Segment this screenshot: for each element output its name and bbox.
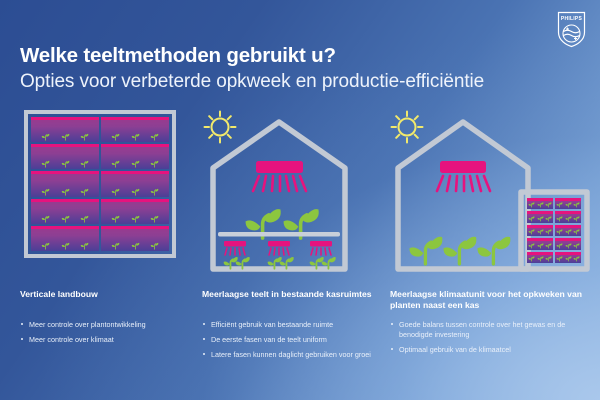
plant-icon [150, 132, 159, 141]
rack-shelf [555, 252, 581, 263]
rack-shelf [555, 225, 581, 236]
column-heading: Meerlaagse teelt in bestaande kasruimtes [202, 289, 378, 300]
plant-icon [61, 187, 70, 196]
rack-shelf [31, 226, 99, 251]
art-greenhouse-with-rack [384, 108, 590, 283]
plant-icon [545, 242, 552, 249]
rack-shelf [31, 117, 99, 142]
rack-shelf [31, 144, 99, 169]
grow-lamp-icon [437, 161, 490, 191]
grow-lamp-icon [310, 241, 332, 255]
plant-icon [556, 255, 563, 262]
plant-icon [565, 215, 572, 222]
vertical-farm-rack [24, 110, 176, 258]
column-climate-unit: Meerlaagse klimaatunit voor het opkweken… [384, 0, 590, 400]
rack-shelf [527, 252, 553, 263]
sun-icon [205, 112, 236, 143]
plant-icon [565, 201, 572, 208]
plant-icon [61, 132, 70, 141]
plant-icon [443, 237, 476, 264]
grow-lamp-icon [253, 161, 306, 191]
plant-icon [111, 132, 120, 141]
grow-lamp-icon [224, 241, 246, 255]
bullet-item: De eerste fasen van de teelt uniform [202, 335, 380, 345]
plant-icon [537, 255, 544, 262]
rack-shelf [555, 211, 581, 222]
plant-icon [528, 215, 535, 222]
plant-icon [537, 242, 544, 249]
bullet-item: Optimaal gebruik van de klimaatcel [390, 345, 588, 355]
climate-unit-rack [527, 198, 581, 263]
plant-icon [573, 228, 580, 235]
plant-icon [150, 214, 159, 223]
plant-icon [41, 159, 50, 168]
plant-icon [573, 242, 580, 249]
bullet-item: Meer controle over klimaat [20, 335, 192, 345]
plant-icon [545, 255, 552, 262]
rack-shelf [101, 171, 169, 196]
plant-icon [477, 237, 510, 264]
plant-icon [573, 215, 580, 222]
plant-icon [41, 241, 50, 250]
plant-icon [131, 132, 140, 141]
plant-icon [545, 201, 552, 208]
greenhouse-outline [213, 122, 345, 269]
plant-icon [565, 228, 572, 235]
plant-icon [556, 201, 563, 208]
bullet-item: Goede balans tussen controle over het ge… [390, 320, 588, 339]
greenhouse-multilayer-illustration [196, 108, 382, 283]
rack-shelf [555, 238, 581, 249]
column-bullets: Meer controle over plantontwikkeling Mee… [20, 320, 192, 350]
plant-icon [61, 241, 70, 250]
plant-icon [537, 228, 544, 235]
plant-icon [131, 187, 140, 196]
plant-icon [131, 214, 140, 223]
plant-icon [150, 187, 159, 196]
plant-icon [111, 159, 120, 168]
plant-icon [528, 228, 535, 235]
column-heading: Verticale landbouw [20, 289, 190, 300]
plant-icon [111, 187, 120, 196]
rack-shelf [31, 171, 99, 196]
plant-icon [565, 255, 572, 262]
sun-icon [392, 112, 423, 143]
art-vertical-farm-rack [14, 108, 194, 283]
infographic-poster: Welke teeltmethoden gebruikt u? Opties v… [0, 0, 600, 400]
rack-shelf [101, 226, 169, 251]
art-greenhouse-multilayer [196, 108, 382, 283]
rack-shelf [101, 144, 169, 169]
plant-icon [80, 241, 89, 250]
plant-icon [80, 132, 89, 141]
bullet-item: Latere fasen kunnen daglicht gebruiken v… [202, 350, 380, 360]
plant-icon [80, 187, 89, 196]
plant-icon [528, 242, 535, 249]
rack-shelf [527, 211, 553, 222]
plant-icon [409, 237, 442, 264]
bullet-item: Meer controle over plantontwikkeling [20, 320, 192, 330]
rack-shelf [527, 225, 553, 236]
plant-icon [537, 201, 544, 208]
column-bullets: Efficiënt gebruik van bestaande ruimte D… [202, 320, 380, 365]
plant-icon [545, 215, 552, 222]
plant-icon [131, 159, 140, 168]
plant-icon [41, 214, 50, 223]
column-heading: Meerlaagse klimaatunit voor het opkweken… [390, 289, 586, 312]
rack-shelf [527, 238, 553, 249]
plant-icon [573, 255, 580, 262]
plant-icon [61, 159, 70, 168]
plant-icon [80, 214, 89, 223]
rack-shelf [101, 199, 169, 224]
plant-icon [150, 159, 159, 168]
rack-shelf [555, 198, 581, 209]
shelf-divider [218, 232, 340, 237]
plant-icon [61, 214, 70, 223]
plant-icon [41, 187, 50, 196]
plant-icon [556, 215, 563, 222]
plant-icon [41, 132, 50, 141]
column-bullets: Goede balans tussen controle over het ge… [390, 320, 588, 360]
plant-icon [556, 242, 563, 249]
plant-icon [537, 215, 544, 222]
plant-icon [150, 241, 159, 250]
plant-icon [556, 228, 563, 235]
column-multilayer-greenhouse: Meerlaagse teelt in bestaande kasruimtes… [196, 0, 382, 400]
plant-icon [528, 201, 535, 208]
plant-icon [573, 201, 580, 208]
rack-shelf [101, 117, 169, 142]
column-vertical-farming: Verticale landbouw Meer controle over pl… [14, 0, 194, 400]
plant-icon [545, 228, 552, 235]
plant-icon [111, 214, 120, 223]
plant-icon [111, 241, 120, 250]
plant-icon [131, 241, 140, 250]
plant-icon [565, 242, 572, 249]
rack-shelf [31, 199, 99, 224]
grow-lamp-icon [268, 241, 290, 255]
bullet-item: Efficiënt gebruik van bestaande ruimte [202, 320, 380, 330]
rack-shelf [527, 198, 553, 209]
plant-icon [80, 159, 89, 168]
plant-icon [528, 255, 535, 262]
